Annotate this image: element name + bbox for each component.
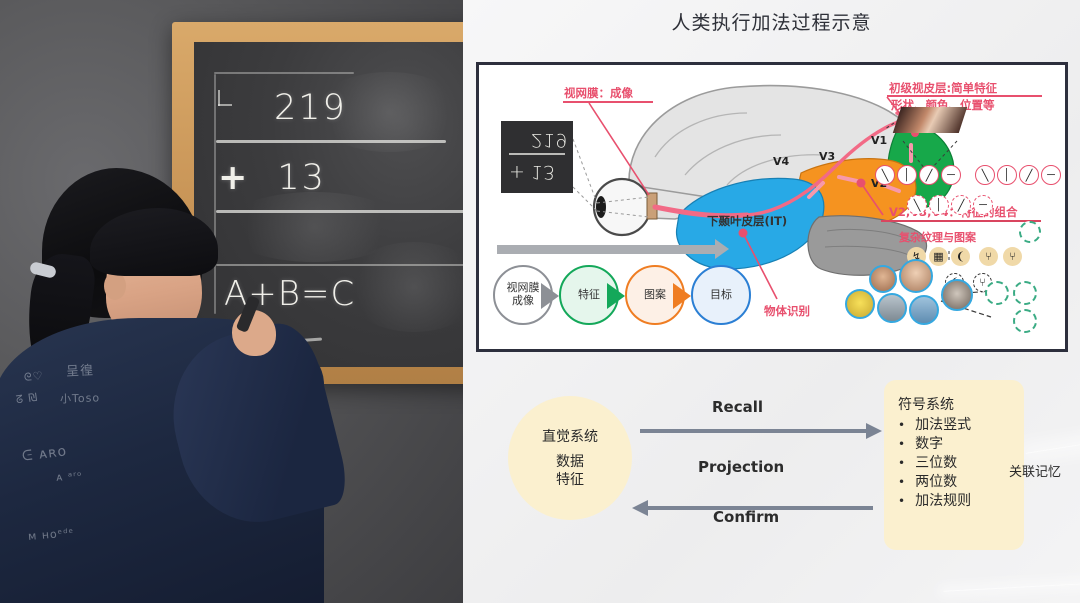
hand <box>232 310 276 356</box>
background-streak <box>1026 387 1080 454</box>
texture-icon-fork: ⑂ <box>979 247 998 266</box>
blackboard-number-top: 219 <box>274 88 347 128</box>
symbol-system-item: 数字 <box>915 435 943 454</box>
retinal-image-thumbnail: 219 + 13 <box>501 121 573 193</box>
feature-icon-horizontal: ─ <box>941 165 961 185</box>
object-slot-placeholder <box>1013 281 1037 305</box>
feature-icon-horizontal: ─ <box>1041 165 1061 185</box>
symbol-system-title: 符号系统 <box>898 394 1024 414</box>
intuition-system-line2: 特征 <box>556 472 584 488</box>
object-slot-placeholder <box>985 281 1009 305</box>
sweater-scribble: 小Toso <box>60 389 101 406</box>
flow-step-1-line2: 成像 <box>512 294 534 307</box>
feature-icon-dashed-horizontal: ─ <box>973 195 993 215</box>
symbol-system-item: 加法竖式 <box>915 416 971 435</box>
symbol-system-item: 两位数 <box>915 473 957 492</box>
sweater-scribble: ᕮ ᴀʀᴏ <box>21 443 68 464</box>
student-figure: ᘓ♡ 呈徨 ᘔ ₪ 小Toso ᕮ ᴀʀᴏ ᴀ ᵃʳᵒ ᴍ ʜᴏᵉᵈᵉ <box>0 168 334 603</box>
confirm-arrow-head <box>632 500 648 516</box>
flow-chevron <box>673 283 691 309</box>
bullet-icon: • <box>898 455 905 471</box>
associative-memory-label: 关联记忆 <box>1009 461 1061 480</box>
feature-icon-dashed-vertical: │ <box>929 195 949 215</box>
feature-icon-vertical: │ <box>897 165 917 185</box>
sweater-scribble: ᴀ ᵃʳᵒ <box>56 469 84 484</box>
label-object-recognition: 物体识别 <box>764 303 810 319</box>
list-item: • 两位数 <box>898 473 1024 492</box>
symbol-system-item: 三位数 <box>915 454 957 473</box>
region-label-v4: V4 <box>773 155 789 168</box>
label-retina-underline <box>563 101 653 103</box>
label-v1-title: 初级视皮层:简单特征 <box>889 80 997 96</box>
list-item: • 三位数 <box>898 454 1024 473</box>
sweater-scribble: ᘔ ₪ <box>15 391 39 408</box>
recall-label: Recall <box>712 398 763 416</box>
intuition-system-node: 直觉系统 数据 特征 <box>508 396 632 520</box>
recall-arrow-head <box>866 423 882 439</box>
region-label-v3: V3 <box>819 150 835 163</box>
confirm-label: Confirm <box>713 508 779 526</box>
intuition-system-line1: 数据 <box>556 454 584 470</box>
list-item: • 加法规则 <box>898 492 1024 511</box>
intuition-system-title: 直觉系统 <box>542 426 598 446</box>
chalk-smudge <box>344 242 463 332</box>
person-thumbnail <box>877 293 907 323</box>
chalk-stroke <box>214 72 354 74</box>
texture-icon-arc: ❨ <box>951 247 970 266</box>
object-slot-placeholder <box>1019 221 1041 243</box>
symbol-system-list: • 加法竖式 • 数字 • 三位数 • 两位数 • 加法规则 <box>898 416 1024 511</box>
dog-thumbnail <box>941 279 973 311</box>
bullet-icon: • <box>898 417 905 433</box>
banana-thumbnail <box>845 289 875 319</box>
sweater-scribble: ᘓ♡ <box>23 369 44 385</box>
sweater-scribble: ᴍ ʜᴏᵉᵈᵉ <box>28 526 75 543</box>
flow-step-target: 目标 <box>691 265 751 325</box>
label-retina: 视网膜：成像 <box>564 85 633 101</box>
bullet-icon: • <box>898 474 905 490</box>
feature-icon-dashed-diagonal-left: ╲ <box>907 195 927 215</box>
list-item: • 数字 <box>898 435 1024 454</box>
label-v234-subtitle: 复杂纹理与图案 <box>899 229 976 245</box>
label-v234-underline <box>881 220 1041 222</box>
texture-icon-grid: ▦ <box>929 247 948 266</box>
retinal-image-addition-row: + 13 <box>509 161 555 183</box>
eye-lens <box>596 196 606 218</box>
ear <box>104 272 126 300</box>
sweater-scribble: 呈徨 <box>66 359 95 379</box>
page-title: 人类执行加法过程示意 <box>463 8 1080 35</box>
feature-icon-vertical: │ <box>997 165 1017 185</box>
retinal-image-rule <box>509 153 565 155</box>
flow-progress-bar <box>497 245 715 254</box>
feature-icon-dashed-diagonal-right: ╱ <box>951 195 971 215</box>
recall-arrow-line <box>640 429 870 433</box>
slide-root: 219 +13 A+B=C ᘓ♡ 呈徨 ᘔ ₪ 小Toso ᕮ <box>0 0 1080 603</box>
projection-label: Projection <box>698 458 784 476</box>
face-thumbnail <box>899 259 933 293</box>
image-patch-closeup <box>893 107 967 133</box>
flow-progress-arrowhead <box>715 239 729 259</box>
brain-visual-pathway-diagram: 219 + 13 视网膜：成像 初级视皮层:简单特征 形状、颜色、位置等 V2,… <box>476 62 1068 352</box>
object-slot-placeholder <box>1013 309 1037 333</box>
region-label-v1: V1 <box>871 134 887 147</box>
bullet-icon: • <box>898 436 905 452</box>
projection-ray <box>573 139 597 211</box>
symbol-system-node: 符号系统 • 加法竖式 • 数字 • 三位数 • 两位数 • 加法规则 <box>884 380 1024 550</box>
eiffel-tower-thumbnail <box>909 295 939 325</box>
chalk-stroke <box>218 104 232 106</box>
girl-at-blackboard-photo: 219 +13 A+B=C ᘓ♡ 呈徨 ᘔ ₪ 小Toso ᕮ <box>0 0 463 603</box>
label-inferior-temporal: 下颞叶皮层(IT) <box>707 213 787 229</box>
retinal-image-number-top: 219 <box>531 129 567 151</box>
feature-icon-diagonal-left: ╲ <box>875 165 895 185</box>
flow-step-1-line1: 视网膜 <box>507 281 540 294</box>
texture-icon-fork: ⑂ <box>1003 247 1022 266</box>
flow-chevron <box>607 283 625 309</box>
flow-chevron <box>541 283 559 309</box>
face-thumbnail <box>869 265 897 293</box>
list-item: • 加法竖式 <box>898 416 1024 435</box>
background-streak <box>943 559 1080 591</box>
feature-icon-diagonal-left: ╲ <box>975 165 995 185</box>
feature-icon-diagonal-right: ╱ <box>1019 165 1039 185</box>
symbol-system-item: 加法规则 <box>915 492 971 511</box>
feature-icon-diagonal-right: ╱ <box>919 165 939 185</box>
chalk-stroke <box>216 140 446 143</box>
bullet-icon: • <box>898 493 905 509</box>
